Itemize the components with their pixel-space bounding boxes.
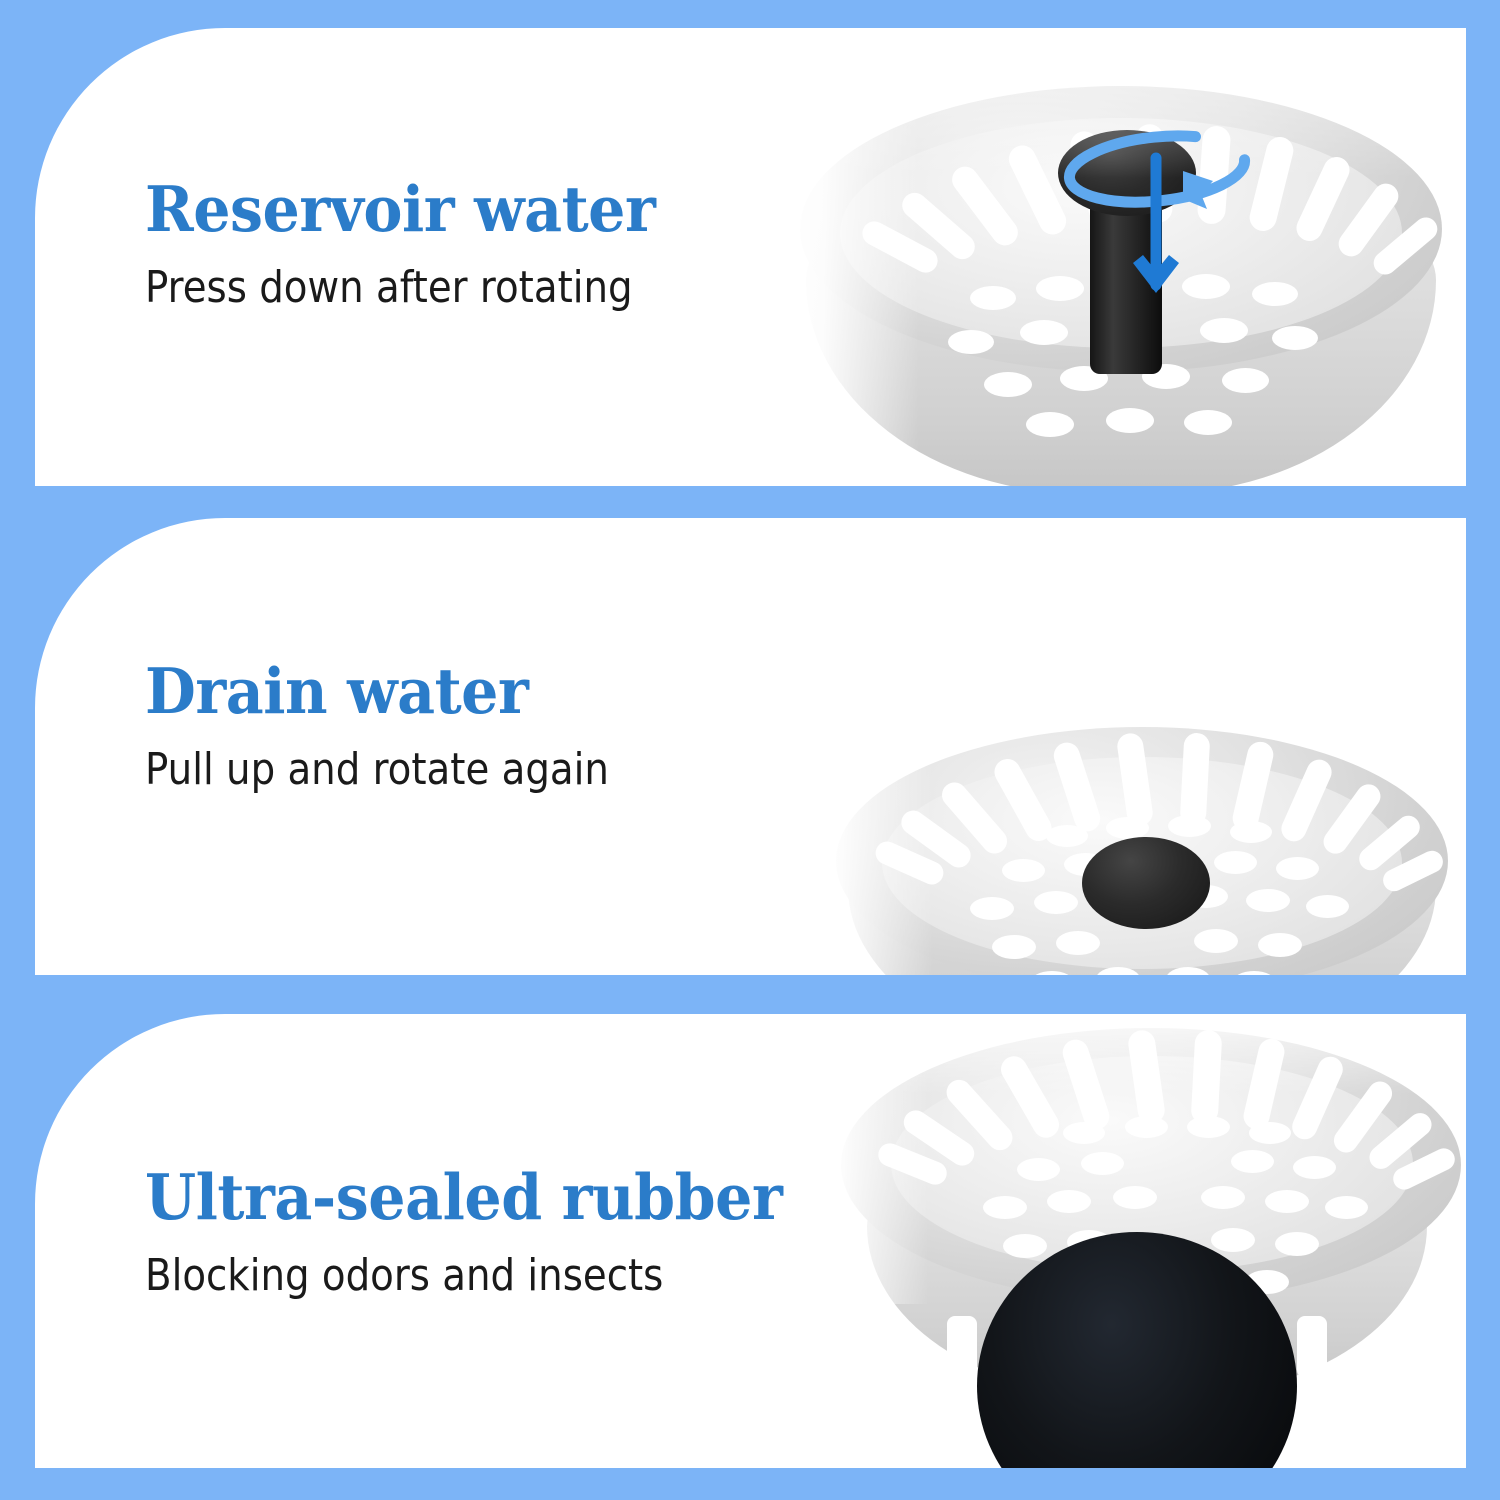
strainer-round-hole bbox=[1113, 1186, 1157, 1209]
strainer-round-hole bbox=[1168, 815, 1211, 837]
panel-3-text-block: Ultra-sealed rubber Blocking odors and i… bbox=[145, 1164, 830, 1301]
feature-panel-ultra-sealed-rubber: Ultra-sealed rubber Blocking odors and i… bbox=[35, 1014, 1466, 1468]
strainer-round-hole bbox=[1201, 1186, 1245, 1209]
strainer-round-hole bbox=[1231, 1150, 1274, 1173]
strainer-round-hole bbox=[1002, 859, 1045, 882]
panel-1-subline: Press down after rotating bbox=[145, 264, 633, 312]
rotate-and-press-arrow-group bbox=[1035, 113, 1305, 343]
panel-3-headline: Ultra-sealed rubber bbox=[145, 1164, 782, 1230]
strainer-round-hole bbox=[1056, 931, 1100, 955]
panel-2-headline: Drain water bbox=[145, 658, 635, 724]
strainer-slot-hole bbox=[1191, 1029, 1223, 1124]
strainer-round-hole bbox=[1106, 408, 1154, 433]
strainer-round-hole bbox=[1017, 1158, 1060, 1181]
strainer-round-hole bbox=[1187, 1116, 1230, 1138]
strainer-round-hole bbox=[1265, 1190, 1309, 1213]
strainer-slot-hole bbox=[1180, 732, 1211, 826]
strainer-round-hole bbox=[1306, 895, 1349, 918]
strainer-wall-notch bbox=[947, 1316, 977, 1378]
strainer-round-hole bbox=[1325, 1196, 1368, 1219]
strainer-round-hole bbox=[1214, 851, 1257, 874]
strainer-round-hole bbox=[1047, 1190, 1091, 1213]
strainer-round-hole bbox=[1046, 825, 1088, 847]
panel-2-text-block: Drain water Pull up and rotate again bbox=[145, 658, 672, 795]
strainer-round-hole bbox=[1125, 1116, 1168, 1138]
feature-panel-drain-water: Drain water Pull up and rotate again bbox=[35, 518, 1466, 975]
product-image-strainer-knob-down bbox=[790, 683, 1466, 975]
strainer-round-hole bbox=[983, 1196, 1027, 1219]
strainer-round-hole bbox=[1222, 368, 1269, 393]
strainer-basket bbox=[790, 683, 1466, 975]
strainer-round-hole bbox=[1026, 412, 1074, 437]
panel-1-text-block: Reservoir water Press down after rotatin… bbox=[145, 176, 699, 313]
feature-panel-reservoir-water: Reservoir water Press down after rotatin… bbox=[35, 28, 1466, 486]
strainer-round-hole bbox=[1249, 1122, 1291, 1144]
panel-2-subline: Pull up and rotate again bbox=[145, 746, 609, 794]
strainer-round-hole bbox=[1230, 821, 1272, 843]
strainer-round-hole bbox=[1211, 1228, 1255, 1252]
strainer-round-hole bbox=[948, 330, 994, 354]
strainer-round-hole bbox=[1184, 410, 1232, 435]
strainer-basket bbox=[795, 1014, 1466, 1468]
strainer-round-hole bbox=[1246, 889, 1290, 912]
strainer-round-hole bbox=[1293, 1156, 1336, 1179]
strainer-round-hole bbox=[1003, 1234, 1047, 1258]
strainer-round-hole bbox=[1258, 933, 1302, 957]
strainer-wall-notch bbox=[1297, 1316, 1327, 1378]
product-image-strainer-rubber-seal bbox=[795, 1014, 1466, 1468]
panel-3-subline: Blocking odors and insects bbox=[145, 1252, 748, 1300]
panel-1-headline: Reservoir water bbox=[145, 176, 660, 242]
strainer-round-hole bbox=[970, 897, 1014, 920]
strainer-round-hole bbox=[1034, 891, 1078, 914]
strainer-round-hole bbox=[984, 372, 1032, 397]
strainer-round-hole bbox=[970, 286, 1016, 310]
strainer-round-hole bbox=[1106, 817, 1149, 839]
infographic-canvas: Reservoir water Press down after rotatin… bbox=[0, 0, 1500, 1500]
strainer-round-hole bbox=[992, 935, 1036, 959]
strainer-round-hole bbox=[1194, 929, 1238, 953]
strainer-round-hole bbox=[1063, 1122, 1105, 1144]
strainer-round-hole bbox=[1275, 1232, 1319, 1256]
strainer-round-hole bbox=[1276, 857, 1319, 880]
strainer-round-hole bbox=[1081, 1152, 1124, 1175]
strainer-knob-cap bbox=[1082, 837, 1210, 929]
